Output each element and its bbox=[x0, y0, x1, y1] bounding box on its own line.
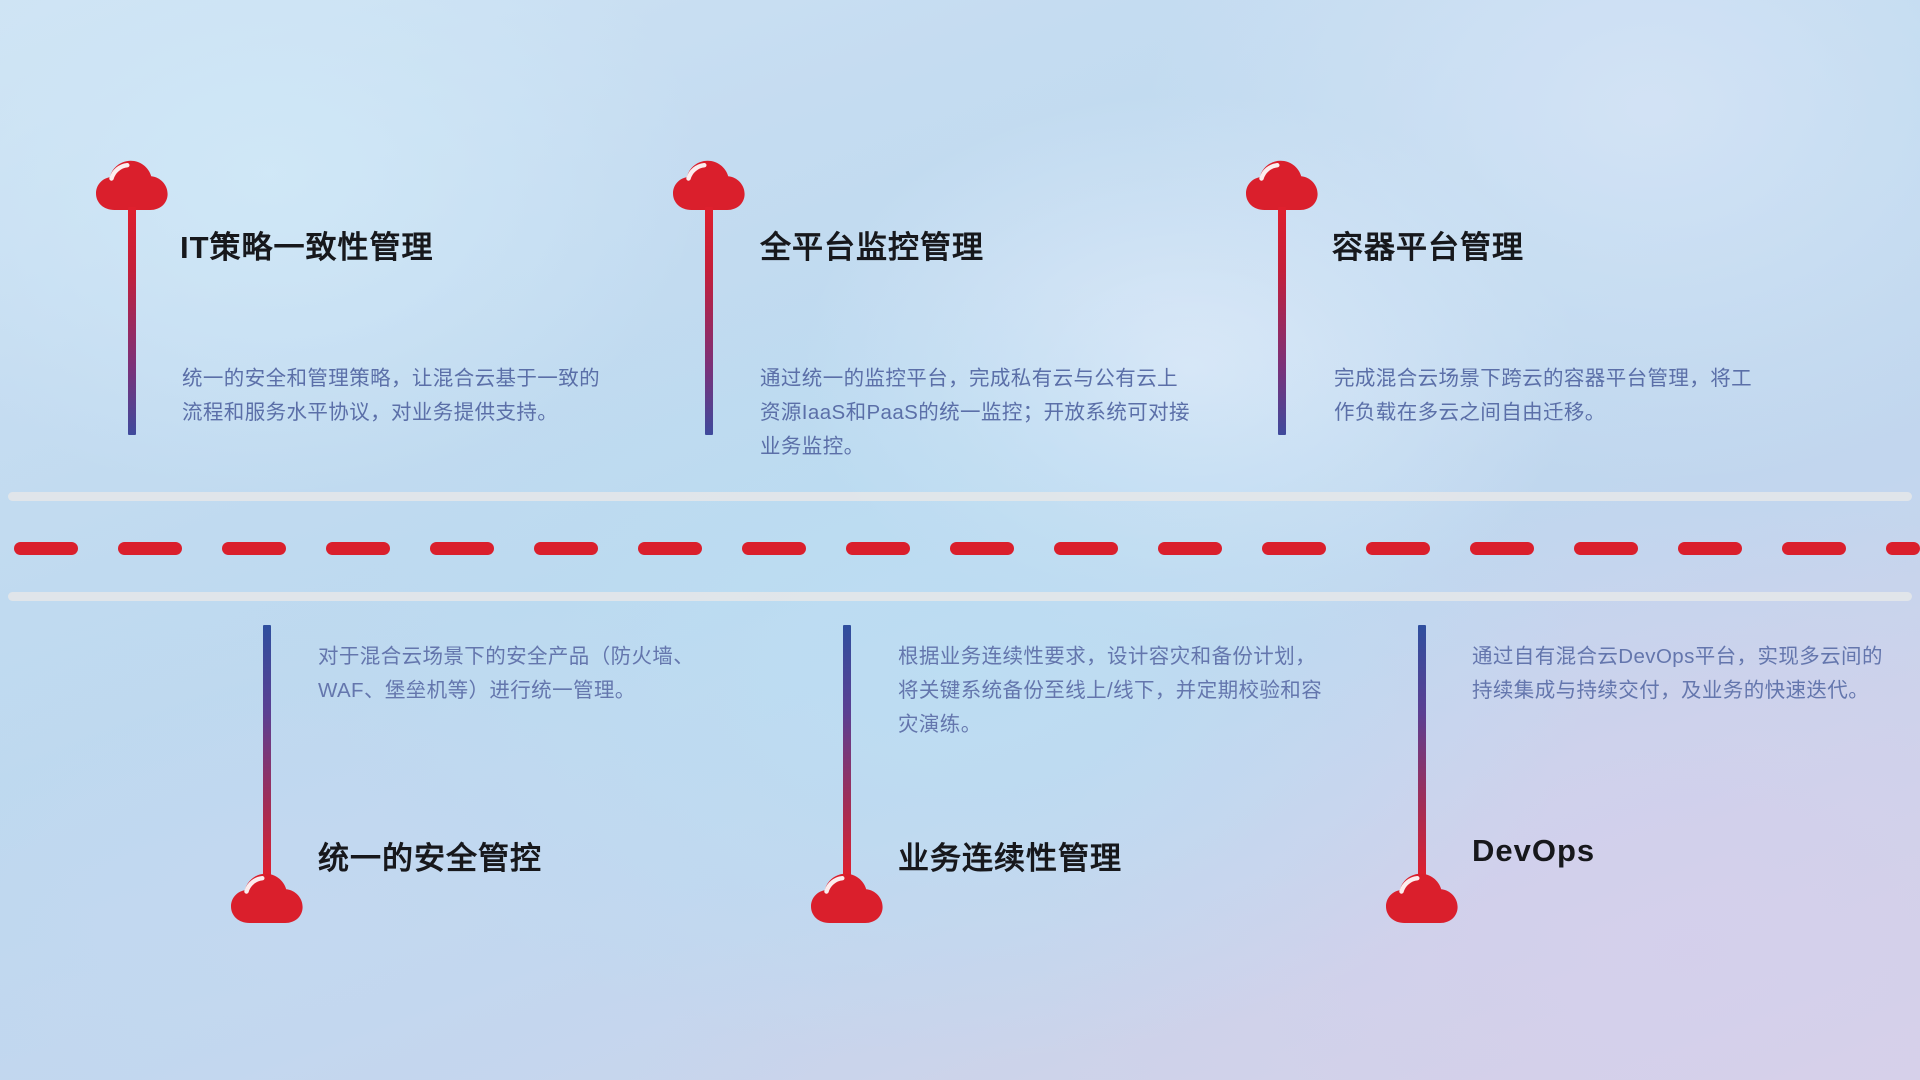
cloud-icon bbox=[672, 160, 746, 212]
divider-rail-bottom bbox=[8, 592, 1912, 601]
column-body-5: 根据业务连续性要求，设计容灾和备份计划，将关键系统备份至线上/线下，并定期校验和… bbox=[898, 640, 1328, 742]
stem-bottom-2 bbox=[843, 625, 851, 877]
column-body-2: 通过统一的监控平台，完成私有云与公有云上资源IaaS和PaaS的统一监控；开放系… bbox=[760, 362, 1190, 464]
column-body-1: 统一的安全和管理策略，让混合云基于一致的流程和服务水平协议，对业务提供支持。 bbox=[182, 362, 612, 430]
divider-dashed-line bbox=[0, 542, 1920, 555]
cloud-icon bbox=[95, 160, 169, 212]
column-body-3: 完成混合云场景下跨云的容器平台管理，将工作负载在多云之间自由迁移。 bbox=[1334, 362, 1764, 430]
column-title-6: DevOps bbox=[1472, 833, 1595, 869]
cloud-icon bbox=[230, 873, 304, 925]
stem-bottom-1 bbox=[263, 625, 271, 877]
column-title-4: 统一的安全管控 bbox=[318, 833, 542, 878]
column-title-2: 全平台监控管理 bbox=[760, 222, 984, 267]
stem-top-3 bbox=[1278, 207, 1286, 435]
column-title-5: 业务连续性管理 bbox=[898, 833, 1122, 878]
column-body-4: 对于混合云场景下的安全产品（防火墙、WAF、堡垒机等）进行统一管理。 bbox=[318, 640, 748, 708]
stem-bottom-3 bbox=[1418, 625, 1426, 877]
column-body-6: 通过自有混合云DevOps平台，实现多云间的持续集成与持续交付，及业务的快速迭代… bbox=[1472, 640, 1902, 708]
infographic-canvas: IT策略一致性管理 统一的安全和管理策略，让混合云基于一致的流程和服务水平协议，… bbox=[0, 0, 1920, 1080]
column-title-1: IT策略一致性管理 bbox=[180, 222, 434, 267]
stem-top-2 bbox=[705, 207, 713, 435]
divider-rail-top bbox=[8, 492, 1912, 501]
stem-top-1 bbox=[128, 207, 136, 435]
column-title-3: 容器平台管理 bbox=[1332, 222, 1524, 267]
cloud-icon bbox=[1385, 873, 1459, 925]
cloud-icon bbox=[1245, 160, 1319, 212]
cloud-icon bbox=[810, 873, 884, 925]
